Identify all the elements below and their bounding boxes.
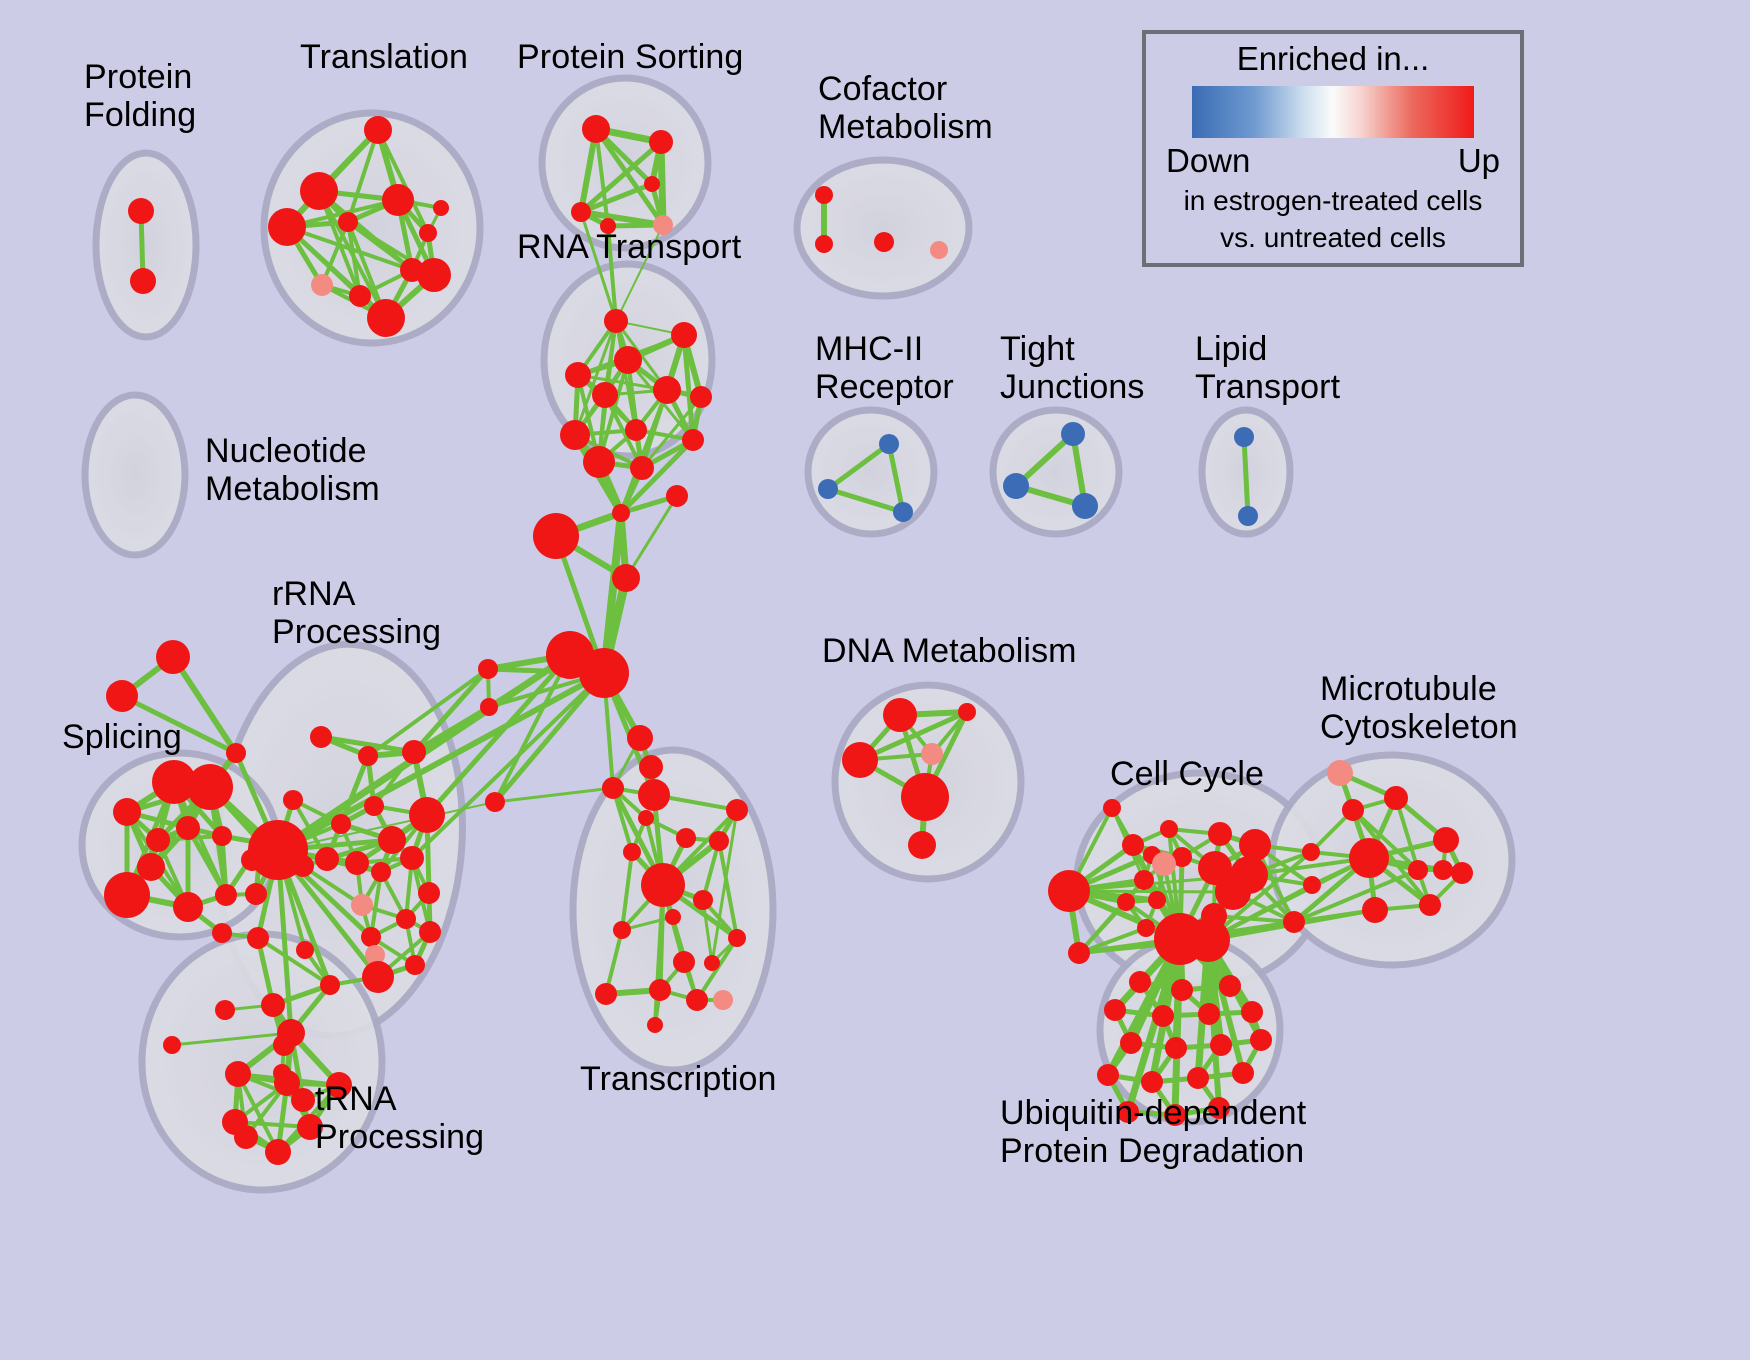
cluster-label-line: Transport (1195, 368, 1340, 406)
network-node[interactable] (641, 863, 685, 907)
legend-subtitle-line-1: in estrogen-treated cells (1160, 184, 1506, 217)
cluster-label-cofactor-metabolism: CofactorMetabolism (818, 70, 993, 146)
network-node[interactable] (1061, 422, 1085, 446)
cluster-hull (808, 410, 934, 534)
network-node[interactable] (1152, 1005, 1174, 1027)
network-node[interactable] (1219, 975, 1241, 997)
network-node[interactable] (291, 1088, 315, 1112)
cluster-hull (542, 78, 708, 248)
network-node[interactable] (433, 200, 449, 216)
network-node[interactable] (104, 872, 150, 918)
network-node[interactable] (818, 479, 838, 499)
legend-subtitle-line-2: vs. untreated cells (1160, 221, 1506, 254)
network-node[interactable] (1171, 979, 1193, 1001)
network-node[interactable] (1198, 1003, 1220, 1025)
network-node[interactable] (296, 941, 314, 959)
network-node[interactable] (579, 648, 629, 698)
cluster-label-trna-processing: tRNAProcessing (315, 1080, 484, 1156)
network-node[interactable] (1048, 870, 1090, 912)
network-edge (1069, 891, 1233, 892)
network-node[interactable] (338, 212, 358, 232)
network-node[interactable] (212, 826, 232, 846)
cluster-label-line: Lipid (1195, 330, 1340, 368)
network-node[interactable] (874, 232, 894, 252)
legend-title: Enriched in... (1160, 40, 1506, 78)
network-node[interactable] (1160, 820, 1178, 838)
network-node[interactable] (1187, 1067, 1209, 1089)
network-node[interactable] (320, 975, 340, 995)
network-node[interactable] (1137, 919, 1155, 937)
cluster-label-lipid-transport: LipidTransport (1195, 330, 1340, 406)
network-node[interactable] (1152, 852, 1176, 876)
network-node[interactable] (358, 746, 378, 766)
network-node[interactable] (638, 779, 670, 811)
network-node[interactable] (1186, 918, 1230, 962)
network-node[interactable] (815, 186, 833, 204)
network-node[interactable] (713, 990, 733, 1010)
network-node[interactable] (653, 376, 681, 404)
network-node[interactable] (1327, 760, 1353, 786)
network-node[interactable] (225, 1061, 251, 1087)
network-node[interactable] (630, 456, 654, 480)
network-node[interactable] (560, 420, 590, 450)
network-node[interactable] (417, 258, 451, 292)
cluster-label-microtubule-cytoskeleton: MicrotubuleCytoskeleton (1320, 670, 1518, 746)
network-node[interactable] (1141, 1071, 1163, 1093)
cluster-label-line: Protein (84, 58, 196, 96)
network-node[interactable] (146, 828, 170, 852)
network-node[interactable] (1072, 493, 1098, 519)
network-node[interactable] (602, 777, 624, 799)
network-node[interactable] (1283, 911, 1305, 933)
network-node[interactable] (1433, 827, 1459, 853)
network-node[interactable] (565, 362, 591, 388)
network-node[interactable] (639, 755, 663, 779)
cluster-label-cell-cycle: Cell Cycle (1110, 755, 1264, 793)
network-node[interactable] (958, 703, 976, 721)
cluster-label-line: Protein Degradation (1000, 1132, 1306, 1170)
network-node[interactable] (261, 993, 285, 1017)
network-node[interactable] (215, 1000, 235, 1020)
network-edge (495, 788, 613, 802)
cluster-label-line: Folding (84, 96, 196, 134)
network-node[interactable] (908, 831, 936, 859)
network-node[interactable] (310, 726, 332, 748)
network-node[interactable] (613, 921, 631, 939)
network-node[interactable] (156, 640, 190, 674)
network-node[interactable] (625, 419, 647, 441)
network-node[interactable] (364, 796, 384, 816)
cluster-label-transcription: Transcription (580, 1060, 777, 1098)
cluster-label-line: Cell Cycle (1110, 755, 1264, 793)
network-node[interactable] (666, 485, 688, 507)
network-node[interactable] (1122, 834, 1144, 856)
network-node[interactable] (676, 828, 696, 848)
network-node[interactable] (1068, 942, 1090, 964)
cluster-label-line: Transcription (580, 1060, 777, 1098)
network-node[interactable] (1234, 427, 1254, 447)
network-node[interactable] (1419, 894, 1441, 916)
cluster-label-line: Splicing (62, 718, 182, 756)
network-node[interactable] (234, 1125, 258, 1149)
network-node[interactable] (400, 846, 424, 870)
network-node[interactable] (419, 921, 441, 943)
cluster-label-line: Receptor (815, 368, 954, 406)
network-node[interactable] (879, 434, 899, 454)
cluster-label-dna-metabolism: DNA Metabolism (822, 632, 1077, 670)
cluster-label-nucleotide-metabolism: NucleotideMetabolism (205, 432, 380, 508)
network-node[interactable] (362, 961, 394, 993)
network-node[interactable] (647, 1017, 663, 1033)
network-node[interactable] (130, 268, 156, 294)
cluster-label-mhc-ii-receptor: MHC-IIReceptor (815, 330, 954, 406)
network-node[interactable] (226, 743, 246, 763)
cluster-label-protein-folding: ProteinFolding (84, 58, 196, 134)
network-node[interactable] (842, 742, 878, 778)
network-node[interactable] (728, 929, 746, 947)
network-node[interactable] (478, 659, 498, 679)
cluster-label-line: DNA Metabolism (822, 632, 1077, 670)
network-node[interactable] (113, 798, 141, 826)
cluster-label-rna-transport: RNA Transport (517, 228, 741, 266)
network-node[interactable] (1232, 1062, 1254, 1084)
network-node[interactable] (901, 773, 949, 821)
network-edge (1175, 939, 1180, 1115)
cluster-label-line: Tight (1000, 330, 1145, 368)
network-node[interactable] (1302, 843, 1320, 861)
network-node[interactable] (1104, 999, 1126, 1021)
network-node[interactable] (247, 927, 269, 949)
network-node[interactable] (1433, 860, 1453, 880)
network-node[interactable] (1120, 1032, 1142, 1054)
network-node[interactable] (409, 797, 445, 833)
network-node[interactable] (604, 309, 628, 333)
network-node[interactable] (163, 1036, 181, 1054)
legend-up-label: Up (1458, 142, 1500, 180)
network-node[interactable] (644, 176, 660, 192)
cluster-label-line: Ubiquitin-dependent (1000, 1094, 1306, 1132)
cluster-label-translation: Translation (300, 38, 468, 76)
cluster-hull (993, 410, 1119, 534)
network-node[interactable] (571, 202, 591, 222)
network-node[interactable] (690, 386, 712, 408)
network-node[interactable] (1103, 799, 1121, 817)
legend-down-label: Down (1166, 142, 1250, 180)
network-node[interactable] (1384, 786, 1408, 810)
network-node[interactable] (1238, 506, 1258, 526)
network-node[interactable] (300, 172, 338, 210)
network-node[interactable] (1342, 799, 1364, 821)
network-node[interactable] (649, 130, 673, 154)
network-node[interactable] (351, 894, 373, 916)
network-node[interactable] (1303, 876, 1321, 894)
network-node[interactable] (137, 853, 165, 881)
cluster-label-line: Microtubule (1320, 670, 1518, 708)
network-node[interactable] (268, 208, 306, 246)
network-node[interactable] (480, 698, 498, 716)
legend-color-gradient-bar (1192, 86, 1474, 138)
network-node[interactable] (1097, 1064, 1119, 1086)
network-node[interactable] (649, 979, 671, 1001)
network-node[interactable] (364, 116, 392, 144)
network-node[interactable] (241, 849, 263, 871)
cluster-label-line: tRNA (315, 1080, 484, 1118)
network-node[interactable] (311, 274, 333, 296)
network-node[interactable] (704, 955, 720, 971)
cluster-label-splicing: Splicing (62, 718, 182, 756)
network-node[interactable] (1215, 874, 1251, 910)
network-node[interactable] (405, 955, 425, 975)
network-node[interactable] (345, 851, 369, 875)
network-node[interactable] (283, 790, 303, 810)
cluster-hull (96, 153, 196, 337)
network-node[interactable] (176, 816, 200, 840)
network-node[interactable] (128, 198, 154, 224)
network-node[interactable] (331, 814, 351, 834)
network-node[interactable] (582, 115, 610, 143)
network-node[interactable] (371, 862, 391, 882)
network-node[interactable] (614, 346, 642, 374)
cluster-label-tight-junctions: TightJunctions (1000, 330, 1145, 406)
network-node[interactable] (382, 184, 414, 216)
network-node[interactable] (638, 810, 654, 826)
network-node[interactable] (1129, 971, 1151, 993)
cluster-label-rrna-processing: rRNAProcessing (272, 575, 441, 651)
network-node[interactable] (1241, 1001, 1263, 1023)
network-node[interactable] (378, 826, 406, 854)
cluster-label-line: Protein Sorting (517, 38, 743, 76)
network-node[interactable] (612, 504, 630, 522)
network-node[interactable] (595, 983, 617, 1005)
network-node[interactable] (396, 909, 416, 929)
legend-endpoint-labels: Down Up (1160, 142, 1506, 180)
network-node[interactable] (1210, 1034, 1232, 1056)
network-node[interactable] (367, 299, 405, 337)
network-node[interactable] (361, 927, 381, 947)
network-node[interactable] (627, 725, 653, 751)
cluster-label-ubiquitin-dependent-protein-degradation: Ubiquitin-dependentProtein Degradation (1000, 1094, 1306, 1170)
network-node[interactable] (215, 884, 237, 906)
enrichment-network-figure: ProteinFoldingTranslationProtein Sorting… (0, 0, 1750, 1360)
network-node[interactable] (930, 241, 948, 259)
network-node[interactable] (419, 224, 437, 242)
network-node[interactable] (1165, 1037, 1187, 1059)
cluster-label-line: Metabolism (818, 108, 993, 146)
network-node[interactable] (1250, 1029, 1272, 1051)
network-node[interactable] (106, 680, 138, 712)
cluster-label-line: Processing (315, 1118, 484, 1156)
network-node[interactable] (709, 831, 729, 851)
network-node[interactable] (1003, 473, 1029, 499)
network-node[interactable] (173, 892, 203, 922)
network-node[interactable] (693, 890, 713, 910)
network-node[interactable] (265, 1139, 291, 1165)
network-node[interactable] (726, 799, 748, 821)
network-node[interactable] (1208, 822, 1232, 846)
network-node[interactable] (418, 882, 440, 904)
network-node[interactable] (1349, 838, 1389, 878)
cluster-label-line: Translation (300, 38, 468, 76)
network-node[interactable] (1408, 860, 1428, 880)
network-node[interactable] (315, 847, 339, 871)
network-node[interactable] (402, 740, 426, 764)
cluster-label-protein-sorting: Protein Sorting (517, 38, 743, 76)
network-node[interactable] (815, 235, 833, 253)
network-node[interactable] (1117, 893, 1135, 911)
network-node[interactable] (921, 743, 943, 765)
network-node[interactable] (623, 843, 641, 861)
cluster-hull (85, 395, 185, 555)
cluster-label-line: MHC-II (815, 330, 954, 368)
network-node[interactable] (583, 446, 615, 478)
cluster-label-line: Metabolism (205, 470, 380, 508)
network-node[interactable] (485, 792, 505, 812)
network-node[interactable] (682, 429, 704, 451)
network-node[interactable] (592, 382, 618, 408)
network-node[interactable] (673, 951, 695, 973)
cluster-label-line: RNA Transport (517, 228, 741, 266)
network-node[interactable] (1148, 891, 1166, 909)
network-node[interactable] (612, 564, 640, 592)
network-node[interactable] (1134, 870, 1154, 890)
legend-box: Enriched in... Down Up in estrogen-treat… (1142, 30, 1524, 267)
network-node[interactable] (1362, 897, 1388, 923)
network-node[interactable] (1239, 829, 1271, 861)
cluster-label-line: rRNA (272, 575, 441, 613)
network-node[interactable] (533, 513, 579, 559)
cluster-label-line: Cytoskeleton (1320, 708, 1518, 746)
cluster-label-line: Nucleotide (205, 432, 380, 470)
network-node[interactable] (665, 909, 681, 925)
cluster-label-line: Cofactor (818, 70, 993, 108)
network-node[interactable] (883, 698, 917, 732)
network-node[interactable] (349, 285, 371, 307)
network-node[interactable] (1451, 862, 1473, 884)
network-node[interactable] (686, 989, 708, 1011)
network-node[interactable] (212, 923, 232, 943)
network-node[interactable] (893, 502, 913, 522)
cluster-label-line: Junctions (1000, 368, 1145, 406)
network-node[interactable] (277, 1019, 305, 1047)
cluster-label-line: Processing (272, 613, 441, 651)
network-node[interactable] (245, 883, 267, 905)
network-node[interactable] (671, 322, 697, 348)
network-node[interactable] (248, 820, 308, 880)
network-node[interactable] (187, 764, 233, 810)
